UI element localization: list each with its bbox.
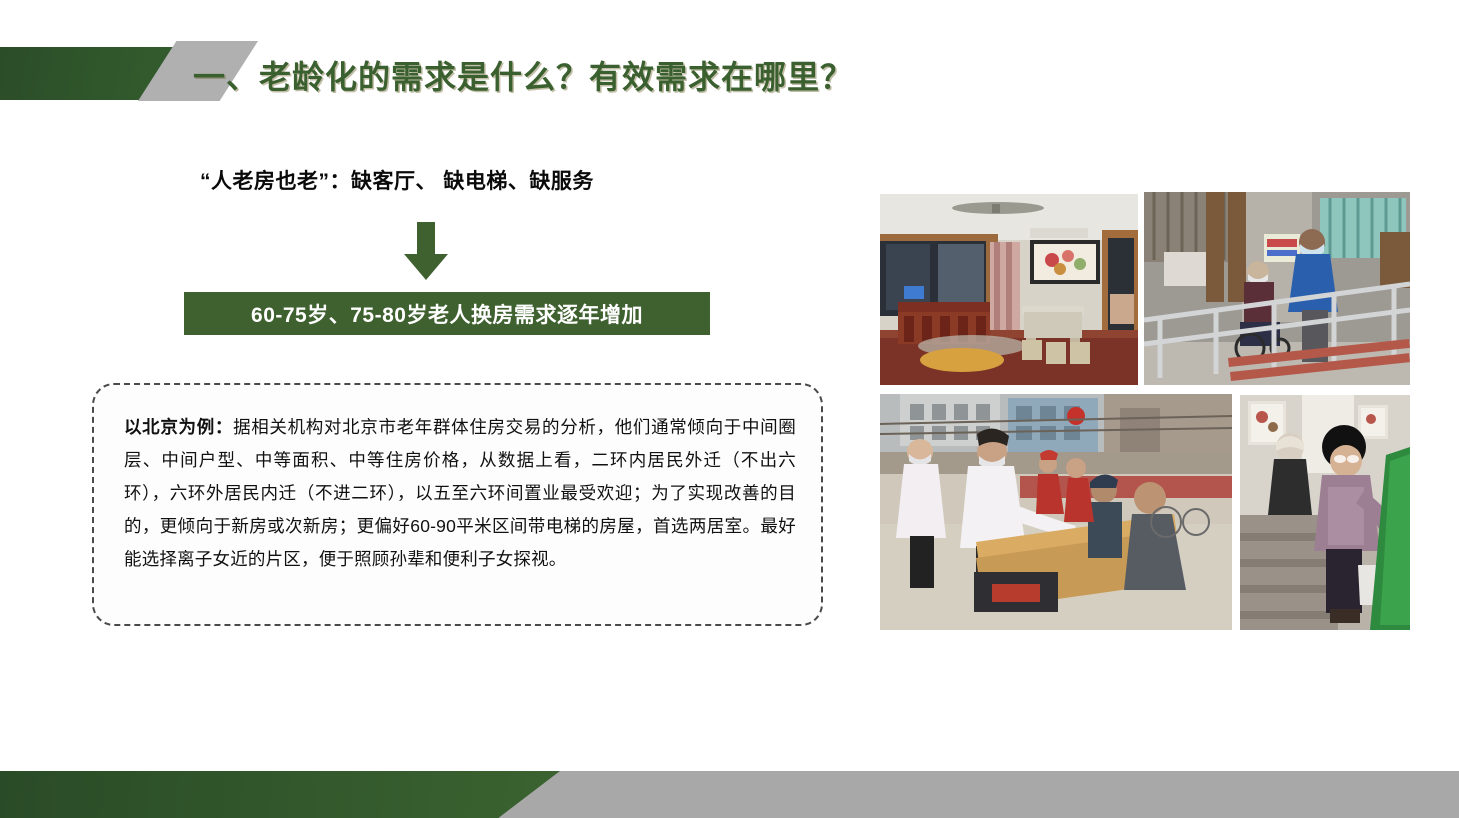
photo-community-clinic bbox=[880, 394, 1232, 630]
page-title: 一、老龄化的需求是什么？有效需求在哪里？ bbox=[193, 52, 853, 98]
highlight-banner-label: 60-75岁、75-80岁老人换房需求逐年增加 bbox=[251, 299, 643, 329]
note-box: 以北京为例：据相关机构对北京市老年群体住房交易的分析，他们通常倾向于中间圈层、中… bbox=[92, 383, 823, 626]
photo-stairs-elderly bbox=[1240, 395, 1410, 630]
slide: 一、老龄化的需求是什么？有效需求在哪里？ “人老房也老”：缺客厅、 缺电梯、缺服… bbox=[0, 0, 1459, 818]
photo-living-room bbox=[880, 194, 1138, 385]
subheading: “人老房也老”：缺客厅、 缺电梯、缺服务 bbox=[200, 165, 594, 195]
arrow-down-icon bbox=[395, 222, 457, 284]
note-paragraph: 以北京为例：据相关机构对北京市老年群体住房交易的分析，他们通常倾向于中间圈层、中… bbox=[124, 411, 796, 576]
highlight-banner: 60-75岁、75-80岁老人换房需求逐年增加 bbox=[184, 292, 710, 335]
note-lead: 以北京为例： bbox=[124, 417, 233, 437]
note-body: 据相关机构对北京市老年群体住房交易的分析，他们通常倾向于中间圈层、中间户型、中等… bbox=[124, 417, 796, 569]
footer-green-shape bbox=[0, 771, 560, 818]
photo-wheelchair-ramp bbox=[1144, 192, 1410, 385]
